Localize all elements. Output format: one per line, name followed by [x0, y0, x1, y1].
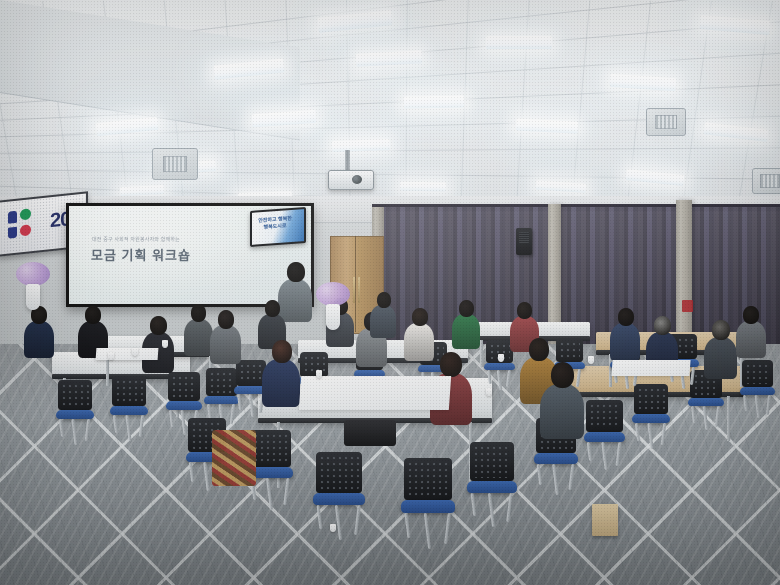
person-torso [262, 359, 300, 407]
chair-mesh-texture [745, 363, 770, 384]
chair-leg [635, 423, 640, 441]
person-head [743, 306, 759, 324]
chair-leg [568, 464, 574, 490]
chair [404, 458, 452, 544]
chair-mesh-texture [209, 371, 234, 393]
ceiling-led-light [404, 95, 464, 108]
flower-bouquet [316, 282, 350, 306]
chair-mesh-texture [559, 341, 580, 359]
ceiling-projector [328, 170, 374, 190]
chair-backrest [250, 430, 291, 467]
fire-equipment-sign-icon [682, 300, 693, 312]
chair [206, 368, 237, 424]
person-torso [540, 384, 584, 439]
chair-leg [616, 442, 622, 466]
chair-backrest [316, 452, 362, 493]
chair-leg [237, 394, 242, 410]
chair-leg [587, 442, 592, 462]
person-head [150, 316, 167, 335]
chair-leg [189, 462, 194, 482]
chart-paper-left [96, 348, 159, 360]
table-leg [727, 396, 730, 441]
chair-leg [113, 415, 118, 433]
chair-seat [534, 453, 579, 464]
chair-backrest [556, 338, 583, 362]
person-head [377, 292, 391, 308]
wall-speaker [516, 228, 532, 255]
ceiling-led-light [400, 182, 446, 192]
chair-mesh-texture [637, 387, 665, 411]
chair-leg [139, 415, 145, 437]
chair [58, 380, 92, 441]
participant-front-navy [262, 340, 300, 407]
participant-right-3 [704, 320, 737, 378]
chair [316, 452, 362, 535]
wall-monitor-text: 안전하고 행복한 행복도시로 [258, 216, 292, 232]
participant-left-3 [142, 316, 174, 373]
person-head [654, 316, 671, 335]
chair-leg [283, 478, 289, 505]
chair-leg [317, 505, 323, 529]
person-head [459, 300, 474, 317]
participant-left-4 [184, 304, 213, 355]
chair-seat [467, 481, 516, 493]
person-torso [370, 305, 396, 338]
chair-leg [690, 367, 695, 386]
chair-leg [487, 370, 492, 384]
paper-cup [162, 340, 168, 348]
chair-mesh-texture [319, 455, 359, 490]
person-head [272, 340, 292, 363]
chair-backrest [112, 376, 146, 406]
chart-paper-center [299, 376, 451, 410]
chair-leg [169, 410, 174, 427]
chair-seat [56, 410, 94, 419]
chair-leg [85, 419, 91, 441]
chair [742, 360, 773, 415]
kraft-paper-bag [592, 504, 618, 536]
chair-mesh-texture [171, 375, 197, 398]
black-bag [344, 420, 396, 446]
person-torso [24, 321, 54, 358]
chair-mesh-texture [589, 403, 620, 429]
chair-seat [204, 396, 239, 404]
person-torso [610, 323, 640, 361]
ceiling-air-vent [752, 168, 780, 194]
ceiling-air-vent [152, 148, 198, 180]
person-head [265, 300, 280, 317]
chair-mesh-texture [407, 461, 449, 497]
workshop-room-photograph: 20 LOGO 대전 중구 사회적 자원봉사자와 함께하는 모금 기획 워크숍 … [0, 0, 780, 585]
paper-cup [498, 354, 504, 362]
chair-backrest [634, 384, 668, 414]
chair-leg [537, 464, 543, 485]
participant-green [452, 300, 480, 350]
chair-mesh-texture [239, 363, 263, 383]
participant-right-1 [610, 308, 640, 361]
participant-back-2 [370, 292, 396, 338]
person-torso [210, 325, 241, 364]
paper-cup [588, 356, 594, 364]
chart-paper-right [611, 360, 690, 376]
person-torso [704, 337, 737, 379]
chair-leg [661, 423, 667, 445]
chair [634, 384, 668, 445]
chair-backrest [404, 458, 452, 500]
chair-mesh-texture [115, 379, 143, 403]
chair-leg [59, 419, 64, 437]
chair-leg [506, 370, 511, 387]
chair-seat [401, 500, 455, 513]
chair-seat [688, 398, 724, 406]
participant-left-1 [24, 306, 54, 358]
paper-cup [330, 524, 336, 532]
flower-vase [326, 304, 340, 330]
chair-seat [166, 401, 202, 410]
chair-backrest [168, 372, 200, 401]
chair-seat [110, 406, 148, 415]
chair [586, 400, 623, 466]
person-head [618, 308, 634, 326]
flower-bouquet [16, 262, 50, 286]
person-head [517, 302, 532, 319]
ceiling-led-light [332, 139, 390, 152]
chair-leg [715, 406, 720, 427]
projector-lens-icon [352, 175, 362, 184]
person-head [287, 262, 305, 282]
chair-leg [404, 513, 410, 538]
chair-leg [743, 395, 748, 411]
flower-vase [26, 284, 40, 310]
chair-leg [766, 395, 771, 415]
chair-backrest [206, 368, 237, 396]
chair-leg [506, 493, 512, 522]
chair-leg [471, 493, 477, 517]
person-head [191, 304, 206, 322]
chair-mesh-texture [253, 433, 288, 464]
chair-leg [354, 505, 361, 535]
person-head [712, 320, 730, 340]
ceiling-led-light [486, 36, 552, 49]
chair-leg [444, 513, 451, 544]
table-leg [480, 340, 483, 367]
chair [250, 430, 291, 505]
paper-cup [108, 352, 114, 360]
paper-cup [486, 388, 492, 396]
ceiling [0, 0, 780, 215]
slide-title: 모금 기획 워크숍 [91, 245, 191, 264]
chair-backrest [300, 352, 328, 377]
banner-logo-blue-lower-icon [8, 227, 17, 239]
chair-backrest [470, 442, 514, 481]
scarf-on-chair [212, 430, 256, 486]
ceiling-air-vent [646, 108, 686, 136]
chair-backrest [742, 360, 773, 387]
chair-mesh-texture [473, 445, 511, 478]
person-torso [452, 314, 480, 349]
chair [486, 340, 513, 387]
chair-backrest [58, 380, 92, 410]
person-head [412, 308, 428, 326]
person-torso [184, 319, 213, 356]
chair-seat [584, 432, 625, 442]
slide-subtitle: 대전 중구 사회적 자원봉사자와 함께하는 [92, 236, 262, 243]
chair-backrest [586, 400, 623, 432]
person-torso [736, 321, 766, 358]
participant-right-4 [736, 306, 766, 358]
person-head [529, 338, 549, 361]
person-head [218, 310, 234, 329]
participant-grey-vest [540, 362, 584, 439]
chair [112, 376, 146, 437]
person-head [551, 362, 574, 388]
chair [470, 442, 514, 522]
chair-seat [313, 493, 364, 505]
chair-seat [740, 387, 775, 395]
table-leg [106, 356, 109, 386]
banner-logo-blue-upper-icon [8, 211, 17, 224]
paper-cup [132, 348, 138, 356]
paper-cup [316, 370, 322, 378]
projector-mount-pole [345, 150, 350, 172]
person-head [85, 306, 101, 324]
chair-leg [691, 406, 696, 423]
chair-seat [632, 414, 670, 423]
participant-left-5 [210, 310, 241, 364]
chair-leg [230, 404, 235, 424]
chair-mesh-texture [61, 383, 89, 407]
person-head [440, 352, 462, 377]
